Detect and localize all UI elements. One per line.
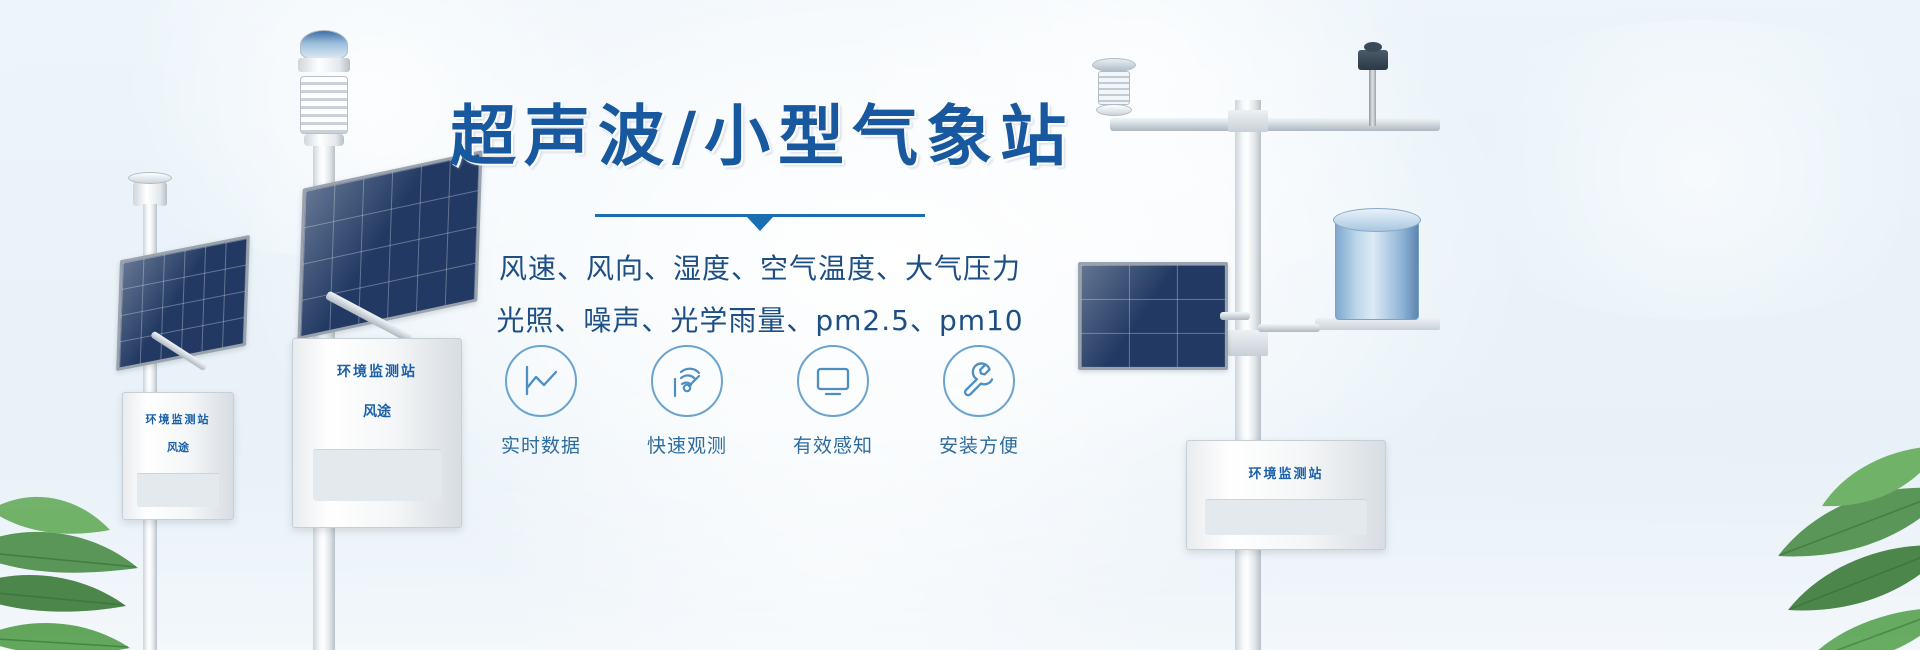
feature-label: 有效感知 (779, 431, 887, 458)
cabinet-label: 环境监测站 (123, 411, 233, 427)
feature-icon-circle (943, 345, 1015, 417)
solar-panel-cells (1081, 265, 1225, 367)
cabinet-vent-strip (137, 473, 219, 507)
cabinet-label: 环境监测站 (293, 361, 461, 381)
feature-item-realtime-data[interactable]: 实时数据 (487, 345, 595, 458)
cabinet-label: 环境监测站 (1187, 463, 1385, 482)
title-divider (595, 210, 925, 224)
cabinet-brand-label: 风途 (123, 439, 233, 455)
feature-label: 实时数据 (487, 431, 595, 458)
cabinet-vent-strip (1205, 499, 1367, 535)
feature-item-easy-installation[interactable]: 安装方便 (925, 345, 1033, 458)
sensor-disc (128, 172, 172, 184)
line-chart-icon (522, 364, 560, 398)
right-ultrasonic-weather-station: 环境监测站 (1060, 40, 1420, 650)
feature-icon-circle (651, 345, 723, 417)
anemometer-body (1098, 71, 1130, 105)
hero-text-block: 超声波/小型气象站 风速、风向、湿度、空气温度、大气压力 光照、噪声、光学雨量、… (450, 100, 1070, 344)
radar-signal-icon (668, 363, 706, 399)
shelf-support-arm (1258, 324, 1320, 332)
mast-pole (1235, 100, 1261, 650)
panel-support-arm (1220, 312, 1250, 320)
mast-collar (1228, 330, 1268, 356)
feature-list: 实时数据 快速观测 (450, 345, 1070, 458)
sensor-head-icon (298, 58, 350, 72)
mast-collar (1228, 110, 1268, 132)
feature-label: 快速观测 (633, 431, 741, 458)
feature-item-effective-sensing[interactable]: 有效感知 (779, 345, 887, 458)
subtitle-line-1: 风速、风向、湿度、空气温度、大气压力 (450, 246, 1070, 292)
equipment-cabinet: 环境监测站 风途 (122, 392, 234, 520)
ultrasonic-anemometer (1090, 58, 1138, 120)
feature-icon-circle (505, 345, 577, 417)
divider-triangle-icon (747, 217, 773, 231)
anemometer-bottom-disc (1096, 104, 1132, 116)
monitor-screen-icon (814, 365, 852, 397)
feature-icon-circle (797, 345, 869, 417)
shield-base (304, 134, 344, 146)
feature-item-fast-observation[interactable]: 快速观测 (633, 345, 741, 458)
cabinet-vent-strip (313, 449, 441, 501)
feature-label: 安装方便 (925, 431, 1033, 458)
solar-panel (1078, 262, 1228, 370)
solar-panel-cells (119, 238, 247, 367)
ultrasonic-sensor-top (300, 30, 348, 60)
subtitle-line-2: 光照、噪声、光学雨量、pm2.5、pm10 (450, 298, 1070, 344)
rain-gauge-lid (1333, 208, 1421, 232)
cloud-decoration (1420, 20, 1920, 320)
radiation-shield (300, 76, 348, 134)
rain-gauge-barrel (1335, 218, 1419, 320)
left-small-weather-station: 环境监测站 风途 (100, 170, 280, 650)
cabinet-brand-label: 风途 (293, 401, 461, 421)
wind-vane-sensor (1356, 46, 1392, 124)
page-title: 超声波/小型气象站 (450, 100, 1070, 174)
hero-banner: 环境监测站 风途 环境监测站 风途 (0, 0, 1920, 650)
anemometer-top-disc (1092, 58, 1136, 72)
equipment-cabinet: 环境监测站 风途 (292, 338, 462, 528)
wrench-icon (960, 362, 998, 400)
equipment-cabinet: 环境监测站 (1186, 440, 1386, 550)
